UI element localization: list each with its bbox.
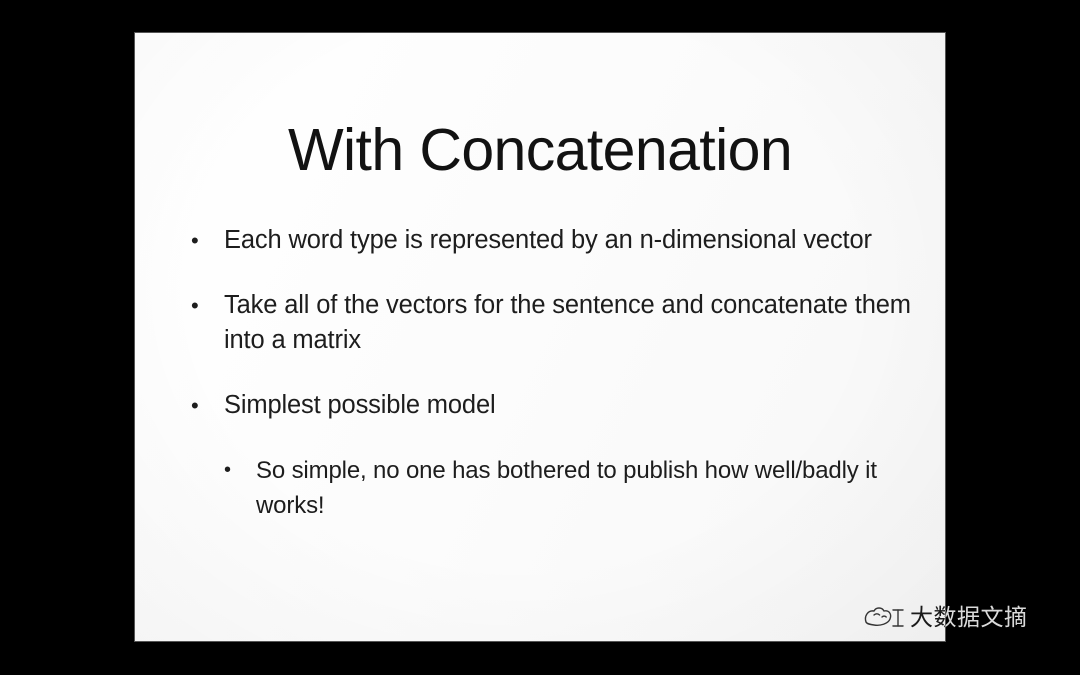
bullet-item: • Take all of the vectors for the senten… xyxy=(186,288,926,358)
page-title: With Concatenation xyxy=(135,121,945,180)
bullet-item: • So simple, no one has bothered to publ… xyxy=(186,453,926,523)
bullet-text: Each word type is represented by an n-di… xyxy=(224,223,926,258)
big-data-digest-logo-icon xyxy=(862,602,906,634)
bullet-text: So simple, no one has bothered to publis… xyxy=(256,453,926,523)
bullet-item: • Each word type is represented by an n-… xyxy=(186,223,926,258)
watermark-text: 大数据文摘 xyxy=(910,607,1028,630)
bullet-item: • Simplest possible model xyxy=(186,388,926,423)
bullet-list: • Each word type is represented by an n-… xyxy=(186,223,926,523)
bullet-text: Take all of the vectors for the sentence… xyxy=(224,288,926,358)
presentation-slide: With Concatenation • Each word type is r… xyxy=(135,33,945,641)
bullet-marker-icon: • xyxy=(191,388,199,423)
bullet-marker-icon: • xyxy=(191,288,199,323)
video-frame: With Concatenation • Each word type is r… xyxy=(0,0,1080,675)
bullet-marker-icon: • xyxy=(224,453,231,488)
bullet-text: Simplest possible model xyxy=(224,388,926,423)
watermark: 大数据文摘 xyxy=(862,602,1028,634)
bullet-marker-icon: • xyxy=(191,223,199,258)
